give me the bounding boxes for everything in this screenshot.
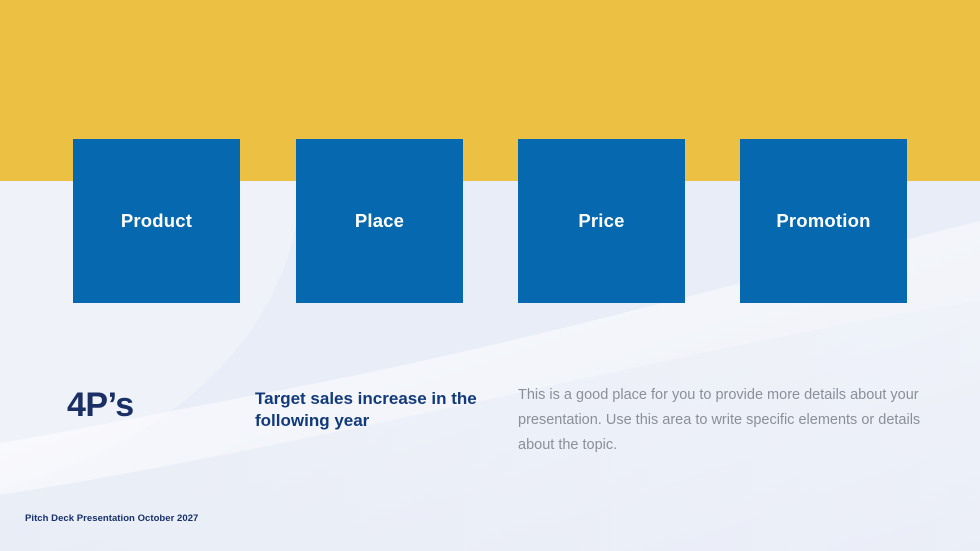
p-box-label: Product [121, 212, 192, 231]
p-box-label: Place [355, 212, 404, 231]
p-box-place[interactable]: Place [296, 139, 463, 303]
slide-content-row: 4P’s Target sales increase in the follow… [0, 380, 980, 480]
stat-heading: Target sales increase in the following y… [255, 388, 490, 432]
stat-body-text: This is a good place for you to provide … [518, 383, 923, 458]
p-box-promotion[interactable]: Promotion [740, 139, 907, 303]
p-box-label: Promotion [776, 212, 870, 231]
p-box-price[interactable]: Price [518, 139, 685, 303]
p-box-product[interactable]: Product [73, 139, 240, 303]
presentation-slide: Product Place Price Promotion 4P’s Targe… [0, 0, 980, 551]
p-box-label: Price [578, 212, 624, 231]
slide-footer: Pitch Deck Presentation October 2027 [25, 513, 198, 524]
stat-number: 4P’s [67, 388, 247, 424]
